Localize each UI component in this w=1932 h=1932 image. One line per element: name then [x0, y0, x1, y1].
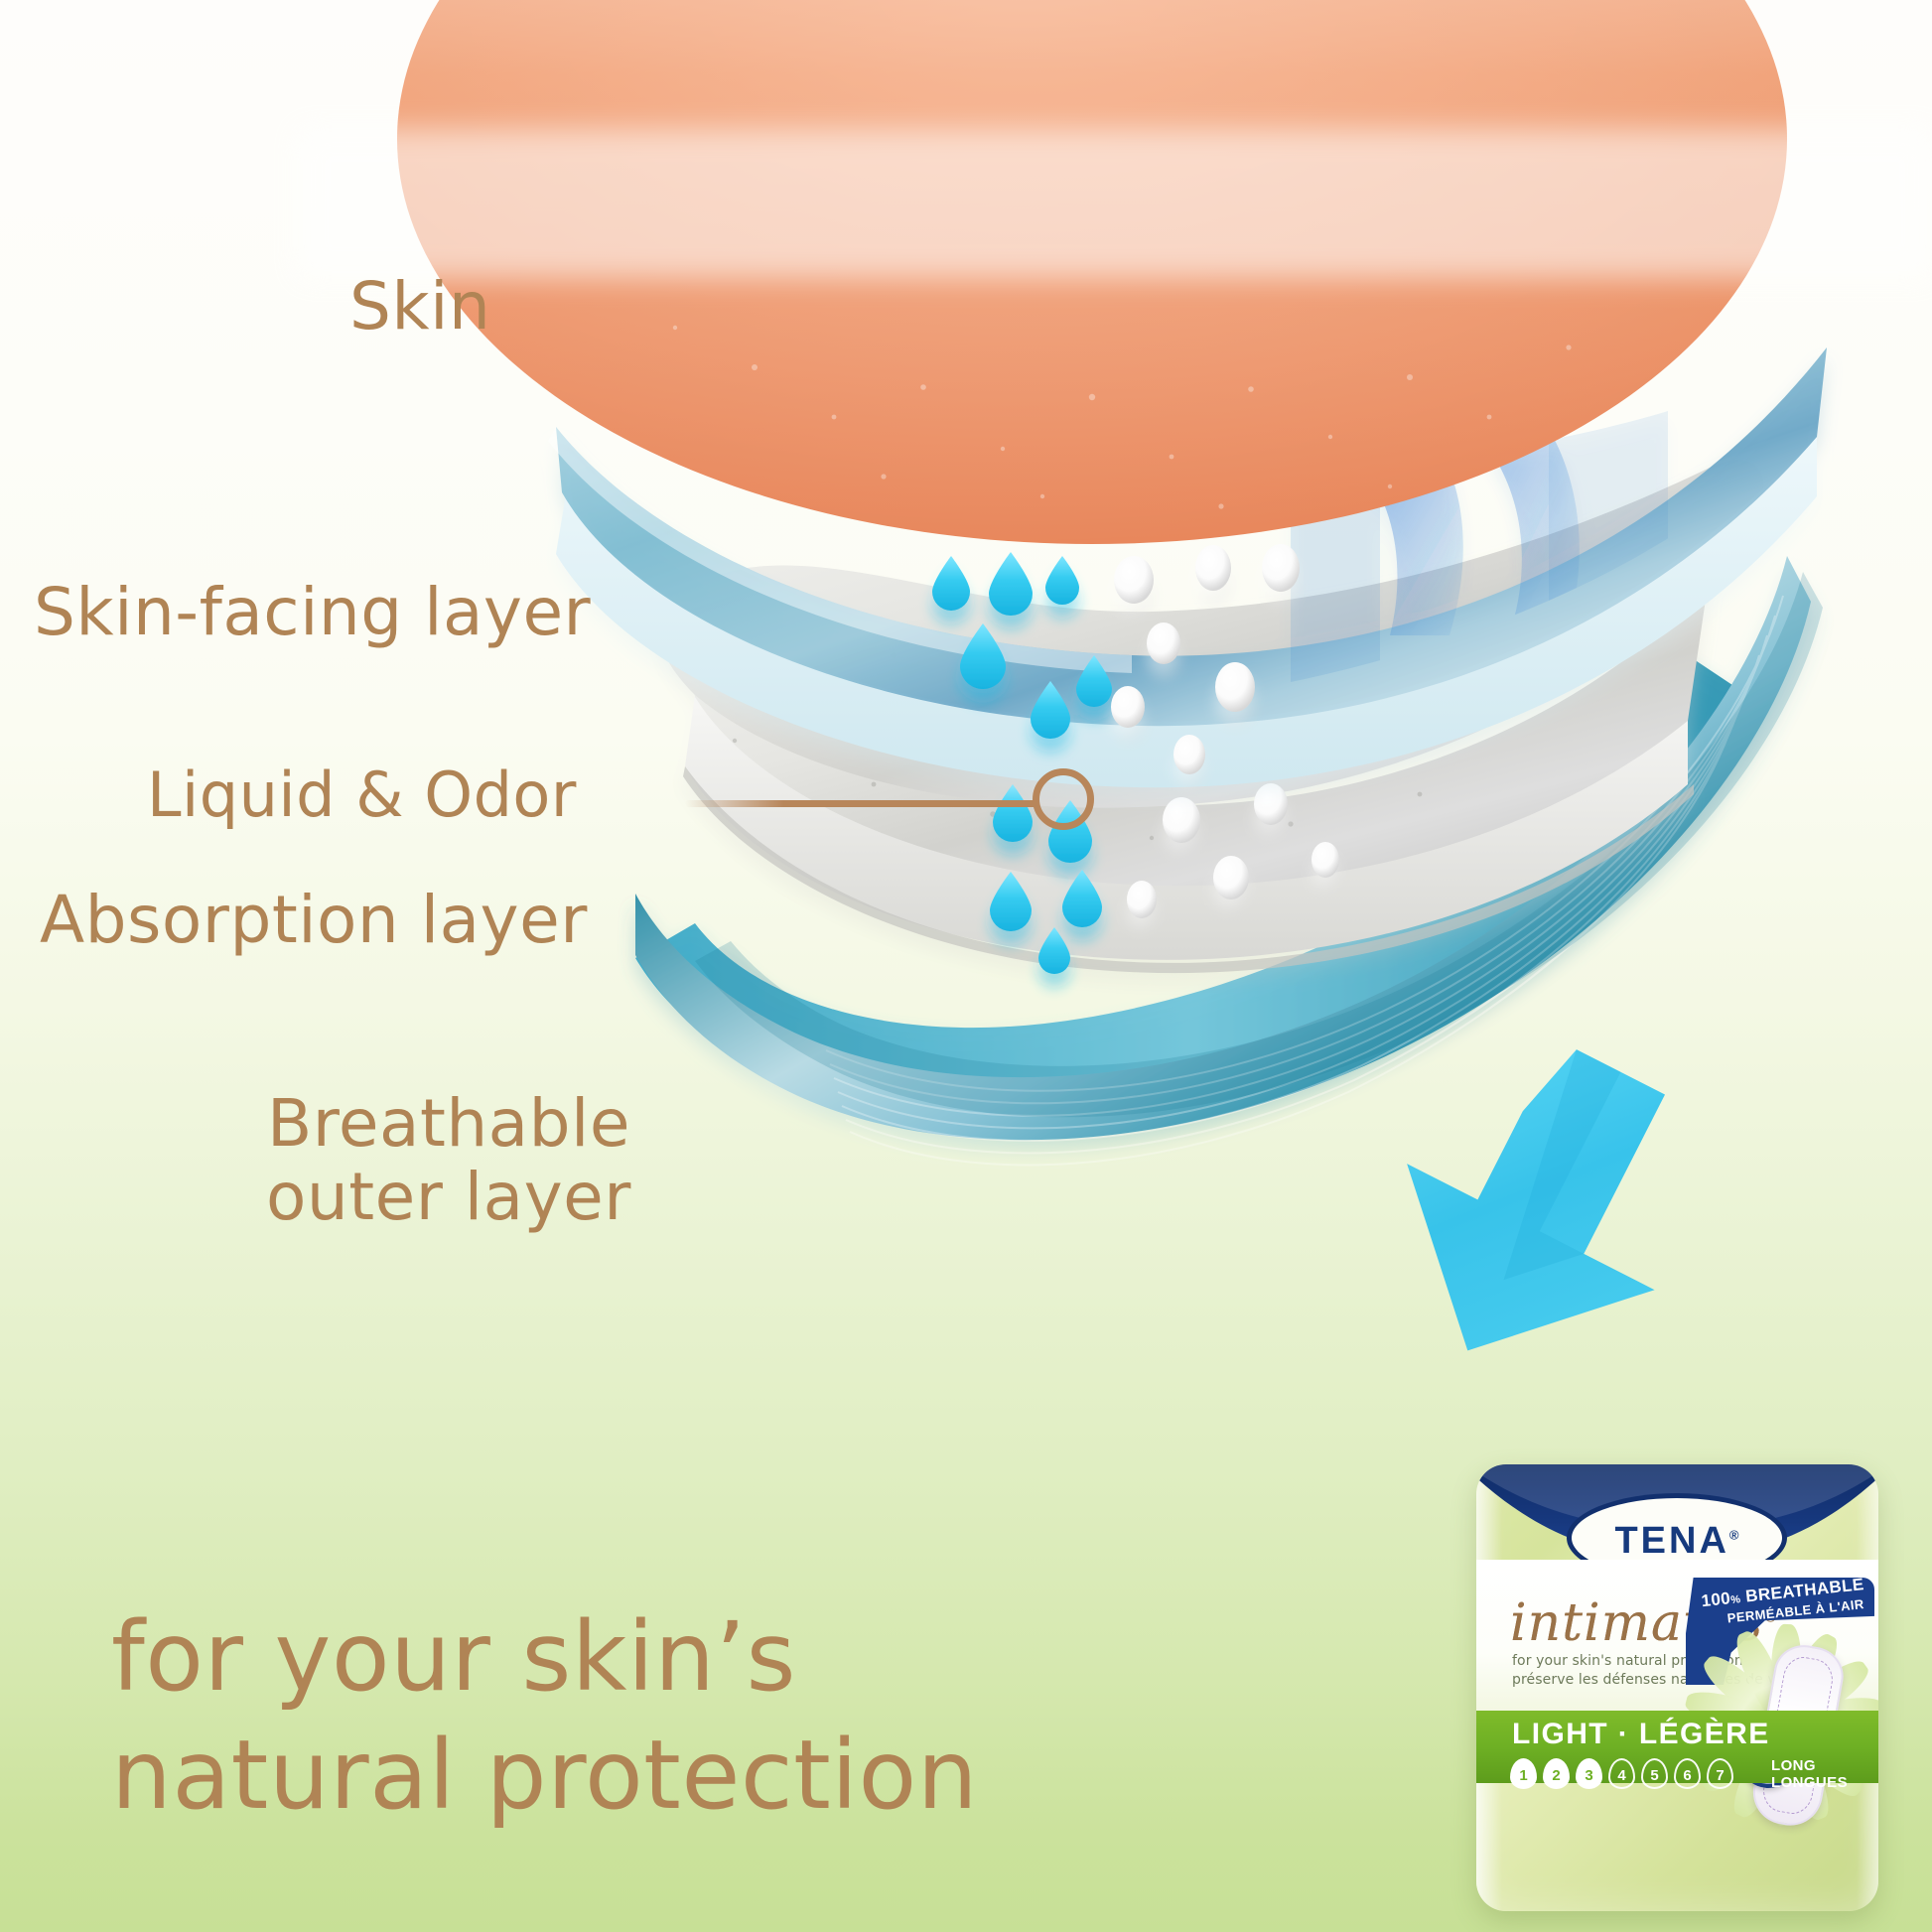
droplet-number: 1: [1519, 1764, 1527, 1784]
droplet-number: 4: [1617, 1764, 1625, 1784]
droplet-number: 3: [1585, 1764, 1592, 1784]
absorbency-droplet-4: 4: [1608, 1758, 1635, 1789]
absorbency-droplet-5: 5: [1641, 1758, 1668, 1789]
liquid-odor-callout-circle: [1033, 768, 1094, 830]
headline-line2: natural protection: [111, 1717, 978, 1835]
package-length-fr: LONGUES: [1771, 1775, 1848, 1792]
headline-line1: for your skin’s: [111, 1601, 796, 1713]
label-breathable-outer-layer-line2: outer layer: [266, 1161, 631, 1234]
label-skin-facing-layer: Skin-facing layer: [34, 576, 591, 649]
headline: for your skin’s natural protection: [111, 1598, 978, 1835]
absorbency-droplet-7: 7: [1707, 1758, 1733, 1789]
package-brand-name: TENA®: [1572, 1520, 1782, 1563]
infographic-canvas: Skin Skin-facing layer Liquid & Odor Abs…: [0, 0, 1932, 1932]
package-length-en: LONG: [1771, 1758, 1848, 1775]
liquid-odor-callout-line: [685, 800, 1037, 807]
package-brand-trademark: ®: [1729, 1527, 1739, 1542]
package-length-label: LONG LONGUES: [1771, 1758, 1848, 1792]
package-breathable-number: 100: [1701, 1588, 1731, 1610]
droplet-number: 5: [1650, 1764, 1658, 1784]
label-skin: Skin: [349, 270, 490, 344]
absorbency-droplet-3: 3: [1576, 1758, 1602, 1789]
breathability-arrow: [1344, 1005, 1736, 1414]
package-brand-text: TENA: [1614, 1520, 1728, 1562]
absorbency-droplet-6: 6: [1674, 1758, 1701, 1789]
product-package[interactable]: TENA® intimates® for your skin's natural…: [1476, 1464, 1878, 1911]
skin-shape: [298, 0, 1932, 544]
package-breathable-percent: %: [1730, 1593, 1741, 1606]
droplet-number: 6: [1683, 1764, 1691, 1784]
absorbency-droplet-2: 2: [1543, 1758, 1570, 1789]
label-absorption-layer: Absorption layer: [40, 884, 588, 957]
absorbency-droplet-1: 1: [1510, 1758, 1537, 1789]
package-absorbency-droplets: 1234567: [1510, 1758, 1733, 1789]
droplet-number: 2: [1552, 1764, 1560, 1784]
label-liquid-and-odor: Liquid & Odor: [147, 760, 577, 829]
label-breathable-outer-layer: Breathable outer layer: [266, 1087, 631, 1234]
droplet-number: 7: [1716, 1764, 1724, 1784]
package-absorbency-label: LIGHT · LÉGÈRE: [1512, 1718, 1770, 1751]
label-breathable-outer-layer-line1: Breathable: [267, 1085, 630, 1162]
